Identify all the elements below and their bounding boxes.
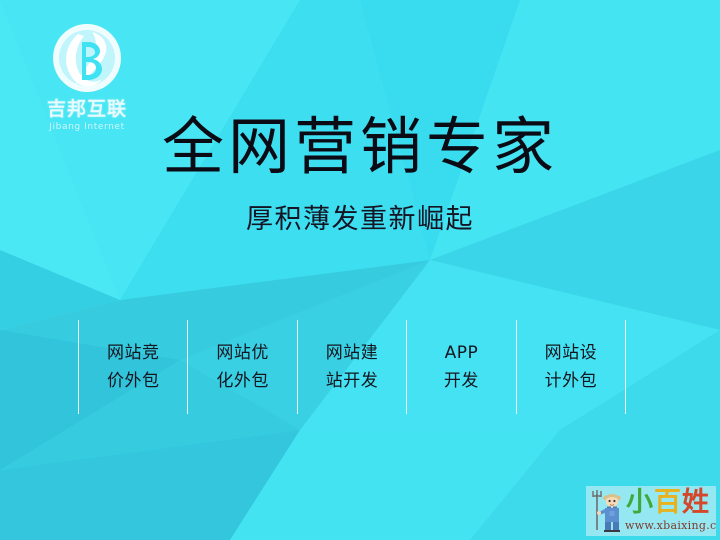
service-label-line2: 开发	[444, 367, 479, 395]
service-divider	[78, 320, 79, 414]
service-item-bidding-outsourcing[interactable]: 网站竞 价外包	[79, 320, 187, 414]
service-divider	[625, 320, 626, 414]
service-label-line2: 价外包	[107, 367, 160, 395]
service-divider	[187, 320, 188, 414]
service-divider	[297, 320, 298, 414]
service-label-line1: 网站建	[326, 339, 379, 367]
service-label-line1: 网站竞	[107, 339, 160, 367]
page-subtitle: 厚积薄发重新崛起	[0, 203, 720, 237]
service-divider	[516, 320, 517, 414]
service-label-line1: 网站优	[216, 339, 269, 367]
service-item-app-development[interactable]: APP 开发	[407, 320, 515, 414]
farmer-with-pitchfork-icon	[589, 488, 625, 532]
service-label-line2: 站开发	[326, 367, 379, 395]
service-item-seo-outsourcing[interactable]: 网站优 化外包	[188, 320, 296, 414]
service-label-line1: APP	[445, 339, 479, 367]
watermark-char-1: 小	[626, 487, 654, 518]
service-item-site-development[interactable]: 网站建 站开发	[298, 320, 406, 414]
service-label-line1: 网站设	[545, 339, 598, 367]
presentation-slide: 吉邦互联 Jibang Internet 全网营销专家 厚积薄发重新崛起 网站竞…	[0, 0, 720, 540]
service-divider	[406, 320, 407, 414]
watermark-char-2: 百	[654, 487, 682, 518]
service-label-line2: 化外包	[216, 367, 269, 395]
watermark-url: www.xbaixing.com	[625, 519, 716, 533]
page-title: 全网营销专家	[0, 110, 720, 184]
service-list: 网站竞 价外包 网站优 化外包 网站建 站开发 APP 开发 网站设 计外包	[78, 320, 626, 414]
service-label-line2: 计外包	[545, 367, 598, 395]
watermark-char-3: 姓	[682, 487, 710, 518]
watermark-brand: 小百姓	[626, 487, 710, 519]
watermark: 小百姓 www.xbaixing.com	[586, 486, 716, 536]
jibang-b-monogram-icon	[48, 22, 126, 98]
service-item-design-outsourcing[interactable]: 网站设 计外包	[517, 320, 625, 414]
